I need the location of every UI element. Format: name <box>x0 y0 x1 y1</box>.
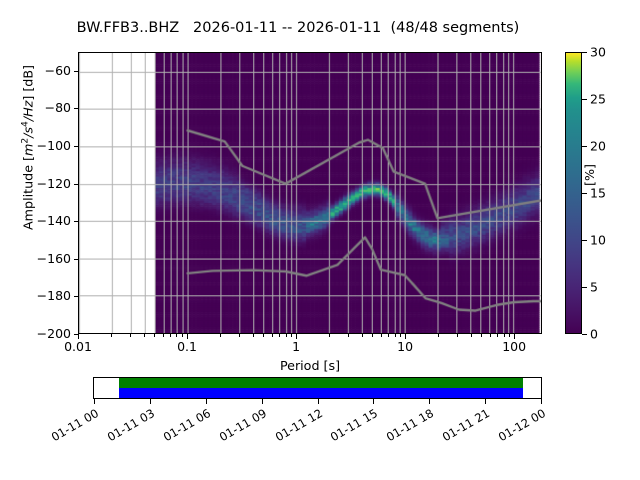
y-tick-mark <box>74 108 78 109</box>
x-tick-minor <box>381 334 382 337</box>
y-tick-mark <box>74 221 78 222</box>
timeline-tick-mark <box>94 399 95 404</box>
x-tick-label: 1 <box>292 339 300 354</box>
y-tick-mark <box>74 71 78 72</box>
x-tick-minor <box>438 334 439 337</box>
timeline-tick-label: 01-11 12 <box>269 406 324 446</box>
x-tick-minor <box>372 334 373 337</box>
y-tick-label: −100 <box>37 138 71 153</box>
timeline-tick-mark <box>206 399 207 404</box>
x-tick-minor <box>497 334 498 337</box>
x-tick-minor <box>291 334 292 337</box>
data-coverage-timeline[interactable] <box>93 377 542 399</box>
x-tick-mark <box>187 334 188 339</box>
timeline-tick-label: 01-11 06 <box>157 406 212 446</box>
x-tick-mark <box>514 334 515 339</box>
x-tick-minor <box>504 334 505 337</box>
x-tick-minor <box>111 334 112 337</box>
x-tick-minor <box>279 334 280 337</box>
ppsd-histogram-canvas <box>79 53 541 333</box>
x-tick-minor <box>170 334 171 337</box>
x-tick-minor <box>395 334 396 337</box>
x-tick-minor <box>348 334 349 337</box>
timeline-tick-label: 01-11 18 <box>381 406 436 446</box>
x-tick-minor <box>329 334 330 337</box>
y-tick-label: −80 <box>45 100 71 115</box>
y-axis-label-text: Amplitude [m2/s4/Hz] [dB] <box>21 65 36 230</box>
colorbar-tick-mark <box>582 52 587 53</box>
x-tick-minor <box>509 334 510 337</box>
x-tick-minor <box>272 334 273 337</box>
timeline-tick-label: 01-12 00 <box>493 406 548 446</box>
x-tick-minor <box>362 334 363 337</box>
colorbar-tick-mark <box>582 99 587 100</box>
colorbar[interactable] <box>565 52 582 334</box>
timeline-tick-label: 01-11 21 <box>437 406 492 446</box>
y-tick-mark <box>74 334 78 335</box>
x-tick-label: 0.1 <box>177 339 197 354</box>
colorbar-tick-mark <box>582 146 587 147</box>
x-tick-minor <box>239 334 240 337</box>
x-tick-minor <box>388 334 389 337</box>
y-tick-mark <box>74 184 78 185</box>
timeline-tick-mark <box>373 399 374 404</box>
data-coverage-blue <box>119 388 524 398</box>
x-tick-minor <box>163 334 164 337</box>
y-tick-label: −60 <box>45 63 71 78</box>
y-axis-label: Amplitude [m2/s4/Hz] [dB] <box>21 28 36 268</box>
timeline-tick-label: 01-11 09 <box>213 406 268 446</box>
colorbar-tick-mark <box>582 193 587 194</box>
y-tick-mark <box>74 296 78 297</box>
x-tick-label: 10 <box>397 339 413 354</box>
x-tick-minor <box>182 334 183 337</box>
x-tick-minor <box>253 334 254 337</box>
x-tick-label: 100 <box>502 339 526 354</box>
timeline-tick-mark <box>485 399 486 404</box>
x-tick-mark <box>296 334 297 339</box>
colorbar-tick-label: 5 <box>590 280 598 295</box>
y-tick-mark <box>74 146 78 147</box>
x-tick-label: 0.01 <box>64 339 92 354</box>
y-tick-label: −160 <box>37 251 71 266</box>
x-tick-minor <box>490 334 491 337</box>
colorbar-tick-label: 20 <box>590 139 606 154</box>
x-tick-minor <box>144 334 145 337</box>
timeline-tick-mark <box>150 399 151 404</box>
y-tick-label: −120 <box>37 176 71 191</box>
timeline-tick-label: 01-11 03 <box>101 406 156 446</box>
colorbar-tick-mark <box>582 334 587 335</box>
colorbar-tick-label: 25 <box>590 92 606 107</box>
data-coverage-green <box>119 378 524 388</box>
page-title: BW.FFB3..BHZ 2026-01-11 -- 2026-01-11 (4… <box>0 20 596 36</box>
x-tick-minor <box>176 334 177 337</box>
y-tick-label: −180 <box>37 288 71 303</box>
x-axis-label: Period [s] <box>78 358 542 373</box>
timeline-tick-mark <box>262 399 263 404</box>
timeline-tick-mark <box>541 399 542 404</box>
colorbar-tick-label: 10 <box>590 233 606 248</box>
colorbar-tick-mark <box>582 240 587 241</box>
x-tick-minor <box>286 334 287 337</box>
timeline-tick-mark <box>318 399 319 404</box>
timeline-tick-mark <box>429 399 430 404</box>
x-tick-minor <box>130 334 131 337</box>
colorbar-label: [%] <box>582 164 597 186</box>
ppsd-figure: BW.FFB3..BHZ 2026-01-11 -- 2026-01-11 (4… <box>0 0 640 480</box>
x-tick-mark <box>78 334 79 339</box>
x-tick-minor <box>471 334 472 337</box>
x-tick-mark <box>405 334 406 339</box>
x-tick-minor <box>220 334 221 337</box>
colorbar-tick-label: 30 <box>590 45 606 60</box>
y-tick-mark <box>74 259 78 260</box>
x-tick-minor <box>263 334 264 337</box>
colorbar-tick-label: 15 <box>590 186 606 201</box>
timeline-tick-label: 01-11 15 <box>325 406 380 446</box>
colorbar-tick-label: 0 <box>590 327 598 342</box>
timeline-tick-label: 01-11 00 <box>46 406 101 446</box>
x-tick-minor <box>400 334 401 337</box>
y-tick-label: −140 <box>37 213 71 228</box>
colorbar-tick-mark <box>582 287 587 288</box>
ppsd-axes[interactable] <box>78 52 542 334</box>
x-tick-minor <box>457 334 458 337</box>
x-tick-minor <box>481 334 482 337</box>
x-tick-minor <box>154 334 155 337</box>
